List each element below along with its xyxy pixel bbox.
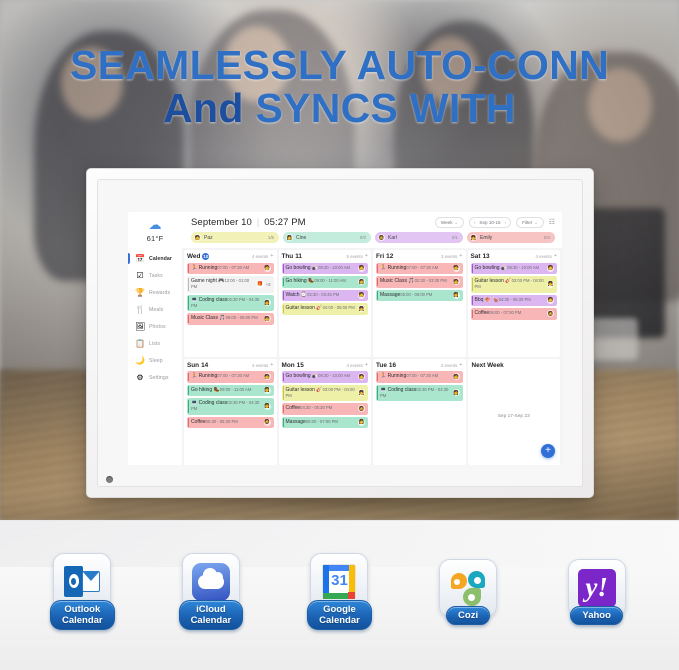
yahoo-tile: y!: [578, 569, 616, 607]
event-title: Guitar lesson 🎸: [286, 305, 323, 311]
app-cozi[interactable]: Cozi: [420, 559, 516, 625]
event-time: 04:30 - 05:30 PM: [499, 297, 531, 302]
event-title: 🏃 Running: [380, 265, 406, 271]
add-event-icon[interactable]: +: [270, 254, 273, 259]
event-color-bar: [377, 278, 378, 287]
event-color-bar: [188, 296, 189, 310]
day-event-count: 3 events: [441, 254, 457, 259]
event-card[interactable]: Bbq 🍖 🍗04:30 - 05:30 PM🧑: [471, 295, 558, 307]
day-name: Thu: [282, 253, 294, 260]
event-avatar: 🧑: [264, 265, 271, 272]
supported-apps-strip: Outlook CalendariCloud Calendar31Google …: [0, 520, 679, 670]
add-event-icon[interactable]: +: [365, 363, 368, 368]
event-text: 🏃 Running07:00 - 07:30 AM: [191, 265, 262, 271]
weather-widget[interactable]: ☁ 61°F: [128, 212, 182, 248]
member-event-count: 1/5: [268, 235, 274, 240]
cloud-icon: ☁: [128, 218, 182, 231]
headline-line-2-suffix: SYNCS WITH: [255, 85, 515, 131]
sleep-icon: 🌙: [135, 357, 145, 365]
day-event-count: 4 events: [252, 363, 268, 368]
sidebar-item-tasks[interactable]: ☑Tasks: [128, 267, 182, 284]
current-date: September 10: [191, 217, 252, 228]
event-card[interactable]: Massage05:00 - 06:00 PM👩: [376, 290, 463, 302]
add-event-icon[interactable]: +: [365, 254, 368, 259]
event-title: Watch ⌚: [286, 292, 308, 298]
member-name: Karl: [388, 235, 449, 241]
event-text: Go bowling 🎳08:30 - 10:00 AM: [286, 373, 357, 379]
day-date: 13: [482, 253, 489, 260]
event-text: Guitar lesson 🎸03:00 PM - 04:00 PM: [286, 387, 357, 399]
cozi-petal-teal: [468, 571, 485, 588]
top-bar: September 10 | 05:27 PM Week ⌄ ‹ Sep 10-…: [182, 212, 562, 232]
event-card[interactable]: Watch ⌚02:30 - 03:45 PM🧑: [282, 290, 369, 302]
event-card[interactable]: Coffee04:30 - 05:30 PM🧔: [282, 403, 369, 415]
event-avatar: 🧑: [547, 297, 554, 304]
event-avatar: 👩: [453, 389, 460, 396]
event-color-bar: [283, 264, 284, 273]
day-title: Mon15: [282, 362, 304, 369]
event-text: Coffee06:00 - 07:00 PM: [475, 310, 546, 316]
event-color-bar: [283, 418, 284, 427]
day-column-sun-14[interactable]: Sun144 events+🏃 Running07:00 - 07:30 AM🧑…: [184, 359, 277, 466]
event-title: Guitar lesson 🎸: [286, 387, 323, 393]
event-title: Go bowling 🎳: [286, 265, 319, 271]
event-card[interactable]: Guitar lesson 🎸03:00 PM - 04:00 PM👧: [282, 385, 369, 402]
day-meta: 2 events+: [441, 363, 462, 368]
event-title: Go hiking 🥾: [191, 387, 220, 393]
day-name: Fri: [376, 253, 384, 260]
photos-icon: 🖼: [135, 323, 145, 331]
event-color-bar: [283, 405, 284, 414]
sidebar-item-sleep[interactable]: 🌙Sleep: [128, 352, 182, 369]
day-header: Thu115 events+: [282, 253, 369, 260]
camera-icon: [106, 476, 113, 483]
event-title: Coffee: [286, 405, 301, 411]
event-card[interactable]: Music Class 🎵05:00 - 06:00 PM🧑: [187, 313, 274, 325]
day-meta: 5 events+: [347, 254, 368, 259]
member-name: Cine: [296, 235, 357, 241]
event-color-bar: [283, 386, 284, 400]
sidebar-item-label: Tasks: [149, 273, 163, 279]
day-name: Tue: [376, 362, 387, 369]
event-text: 🏃 Running07:00 - 07:30 AM: [191, 373, 262, 379]
cozi-petal-green: [463, 588, 481, 606]
event-color-bar: [472, 278, 473, 292]
avatar: 👩: [286, 234, 293, 241]
event-more-count: +3: [266, 282, 271, 287]
event-title: Massage: [380, 292, 400, 298]
event-avatar: 👩: [264, 403, 271, 410]
event-card[interactable]: 🏃 Running07:00 - 07:30 AM🧑: [187, 263, 274, 275]
day-date: 14: [201, 362, 208, 369]
event-avatar: 🎁: [257, 281, 264, 288]
headline-line-1: SEAMLESSLY AUTO-CONN: [0, 44, 679, 87]
event-avatar: 👧: [358, 389, 365, 396]
event-title: Music Class 🎵: [191, 315, 226, 321]
event-color-bar: [283, 305, 284, 314]
headline-line-2: And SYNCS WITH: [0, 87, 679, 130]
event-time: 08:30 - 10:00 AM: [318, 373, 350, 378]
main-panel: September 10 | 05:27 PM Week ⌄ ‹ Sep 10-…: [182, 212, 562, 465]
day-column-wed-10[interactable]: Wed104 events+🏃 Running07:00 - 07:30 AM🧑…: [184, 250, 277, 357]
event-text: Bbq 🍖 🍗04:30 - 05:30 PM: [475, 297, 546, 303]
event-avatar: 👧: [358, 305, 365, 312]
member-chip-cine[interactable]: 👩Cine0/3: [283, 232, 371, 243]
day-event-count: 2 events: [441, 363, 457, 368]
cozi-dot: [468, 594, 475, 601]
event-card[interactable]: Guitar lesson 🎸04:00 - 05:00 PM👧: [282, 303, 369, 315]
event-title: 🏃 Running: [191, 265, 217, 271]
sidebar-item-label: Rewards: [149, 290, 170, 296]
event-avatar: 👩: [264, 299, 271, 306]
event-time: 07:00 - 07:30 AM: [217, 373, 249, 378]
event-time: 08:30 - 10:00 AM: [507, 265, 539, 270]
event-list: 🏃 Running07:00 - 07:30 AM🧑💻 Coding class…: [376, 371, 463, 401]
week-row: Sun144 events+🏃 Running07:00 - 07:30 AM🧑…: [182, 359, 562, 466]
event-time: 07:00 - 07:30 AM: [217, 265, 249, 270]
event-card[interactable]: 💻 Coding class02:30 PM - 04:30 PM👩: [187, 398, 274, 415]
event-title: Go bowling 🎳: [475, 265, 508, 271]
google-calendar-icon: 31: [319, 562, 359, 602]
add-event-icon[interactable]: +: [554, 254, 557, 259]
sidebar-nav: 📅Calendar☑Tasks🏆Rewards🍴Meals🖼Photos📋Lis…: [128, 248, 182, 386]
chevron-down-icon: ⌄: [534, 220, 537, 225]
day-name: Sun: [187, 362, 199, 369]
avatar: 🧑: [194, 234, 201, 241]
day-event-count: 4 events: [252, 254, 268, 259]
day-header: Tue162 events+: [376, 362, 463, 369]
event-title: Coffee: [475, 310, 490, 316]
gcal-day-number: 31: [319, 573, 359, 588]
gcal-corner: [348, 592, 355, 599]
event-card[interactable]: Go hiking 🥾09:00 - 11:00 AM👩: [187, 385, 274, 397]
event-avatar: 🧔: [358, 405, 365, 412]
day-date: 16: [389, 362, 396, 369]
add-event-button[interactable]: +: [541, 444, 555, 458]
event-card[interactable]: Coffee06:00 - 07:00 PM🧔: [471, 308, 558, 320]
event-time: 05:30 - 06:30 PM: [206, 419, 238, 424]
sidebar-item-settings[interactable]: ⚙Settings: [128, 369, 182, 386]
chevron-left-icon[interactable]: ‹: [474, 220, 476, 225]
event-avatar: 👩: [264, 387, 271, 394]
day-event-count: 4 events: [347, 363, 363, 368]
event-time: 08:30 - 10:00 AM: [318, 265, 350, 270]
event-list: Go bowling 🎳08:30 - 10:00 AM🧑Go hiking 🥾…: [282, 263, 369, 315]
day-title: Tue16: [376, 362, 396, 369]
event-time: 02:30 - 03:45 PM: [307, 292, 339, 297]
current-time: 05:27 PM: [264, 217, 305, 228]
event-card[interactable]: Guitar lesson 🎸03:00 PM - 04:00 PM👧: [471, 276, 558, 293]
event-list: 🏃 Running07:00 - 07:30 AM🧑Go hiking 🥾09:…: [187, 371, 274, 428]
chevron-right-icon[interactable]: ›: [505, 220, 507, 225]
date-range-label: Sep 10-16: [479, 220, 500, 225]
app-label: Outlook Calendar: [50, 600, 115, 630]
sidebar-item-lists[interactable]: 📋Lists: [128, 335, 182, 352]
event-card[interactable]: 🏃 Running07:00 - 07:30 AM🧑: [376, 263, 463, 275]
event-list: 🏃 Running07:00 - 07:30 AM🧑Music Class 🎵0…: [376, 263, 463, 302]
app-label: Yahoo: [570, 606, 623, 625]
device-screen[interactable]: ☁ 61°F 📅Calendar☑Tasks🏆Rewards🍴Meals🖼Pho…: [128, 212, 562, 465]
event-text: Go bowling 🎳08:30 - 10:00 AM: [286, 265, 357, 271]
cozi-dot: [474, 577, 481, 584]
next-week-title: Next Week: [472, 362, 504, 369]
avatar: 🧔: [378, 234, 385, 241]
day-column-mon-15[interactable]: Mon154 events+Go bowling 🎳08:30 - 10:00 …: [279, 359, 372, 466]
cozi-icon: [448, 568, 488, 608]
event-color-bar: [472, 296, 473, 305]
event-title: Bbq 🍖 🍗: [475, 297, 499, 303]
event-title: 💻 Coding class: [380, 387, 416, 393]
event-title: 💻 Coding class: [191, 297, 227, 303]
event-time: 02:30 - 03:30 PM: [415, 278, 447, 283]
event-color-bar: [188, 315, 189, 324]
view-selector[interactable]: Week ⌄: [435, 217, 464, 227]
event-time: 07:00 - 07:30 AM: [406, 373, 438, 378]
event-time: 06:00 - 07:00 PM: [489, 310, 521, 315]
day-date: 11: [295, 253, 302, 260]
today-badge: 10: [202, 253, 209, 260]
date-time-display: September 10 | 05:27 PM: [191, 217, 306, 228]
event-card[interactable]: Go bowling 🎳08:30 - 10:00 AM🧑: [471, 263, 558, 275]
event-card[interactable]: Go bowling 🎳08:30 - 10:00 AM🧑: [282, 371, 369, 383]
event-avatar: 🧑: [453, 265, 460, 272]
event-text: Massage05:00 - 06:00 PM: [380, 292, 451, 298]
day-meta: 4 events+: [252, 254, 273, 259]
event-text: 💻 Coding class02:30 PM - 04:30 PM: [191, 297, 262, 309]
event-avatar: 👧: [547, 281, 554, 288]
event-text: 💻 Coding class02:30 PM - 04:30 PM: [191, 400, 262, 412]
sidebar-item-meals[interactable]: 🍴Meals: [128, 301, 182, 318]
event-list: Go bowling 🎳08:30 - 10:00 AM🧑Guitar less…: [471, 263, 558, 320]
event-time: 05:00 - 06:00 PM: [400, 292, 432, 297]
event-text: Music Class 🎵02:30 - 03:30 PM: [380, 278, 451, 284]
calendar-icon: 📅: [135, 255, 145, 263]
event-title: Coffee: [191, 419, 206, 425]
week-grid: Wed104 events+🏃 Running07:00 - 07:30 AM🧑…: [182, 248, 562, 465]
day-meta: 4 events+: [252, 363, 273, 368]
event-avatar: 🧔: [264, 419, 271, 426]
day-date: 15: [297, 362, 304, 369]
day-header: Mon154 events+: [282, 362, 369, 369]
day-header: Sat134 events+: [471, 253, 558, 260]
day-meta: 4 events+: [536, 254, 557, 259]
member-name: Emily: [480, 235, 541, 241]
event-text: 🏃 Running07:00 - 07:30 AM: [380, 373, 451, 379]
day-date: 12: [386, 253, 393, 260]
event-list: Go bowling 🎳08:30 - 10:00 AM🧑Guitar less…: [282, 371, 369, 428]
day-title: Sat13: [471, 253, 490, 260]
event-color-bar: [188, 264, 189, 273]
app-outlook-calendar[interactable]: Outlook Calendar: [34, 553, 130, 630]
headline-line-2-prefix: And: [163, 85, 255, 131]
event-text: Music Class 🎵05:00 - 06:00 PM: [191, 315, 262, 321]
sidebar-item-label: Calendar: [149, 256, 172, 262]
meals-icon: 🍴: [135, 306, 145, 314]
event-text: Watch ⌚02:30 - 03:45 PM: [286, 292, 357, 298]
icloud-cloud-shape: [198, 575, 224, 589]
avatar: 👧: [470, 234, 477, 241]
event-color-bar: [472, 310, 473, 319]
icloud-calendar-icon: [191, 562, 231, 602]
event-color-bar: [188, 278, 189, 292]
event-color-bar: [188, 418, 189, 427]
event-text: Massage06:00 - 07:00 PM: [286, 419, 357, 425]
app-icloud-calendar[interactable]: iCloud Calendar: [163, 553, 259, 630]
event-avatar: 🧑: [358, 292, 365, 299]
sidebar-item-label: Settings: [149, 375, 169, 381]
event-text: Go hiking 🥾09:00 - 11:00 AM: [286, 278, 357, 284]
sidebar-item-calendar[interactable]: 📅Calendar: [128, 250, 182, 267]
app-label: Google Calendar: [307, 600, 372, 630]
event-color-bar: [283, 373, 284, 382]
event-avatar: 🧔: [547, 310, 554, 317]
filter-button[interactable]: Filter ⌄: [516, 217, 544, 227]
cozi-petal-orange: [451, 573, 467, 589]
event-card[interactable]: 💻 Coding class02:30 PM - 04:30 PM👩: [187, 295, 274, 312]
event-title: Massage: [286, 419, 306, 425]
event-avatar: 🧑: [453, 373, 460, 380]
date-time-separator: |: [257, 217, 259, 227]
add-event-icon[interactable]: +: [459, 363, 462, 368]
add-event-icon[interactable]: +: [459, 254, 462, 259]
outlook-o-inner: [71, 578, 76, 585]
lists-icon: 📋: [135, 340, 145, 348]
view-selector-label: Week: [441, 220, 453, 225]
event-avatar: 🧑: [547, 265, 554, 272]
headline: SEAMLESSLY AUTO-CONN And SYNCS WITH: [0, 44, 679, 129]
event-title: Go hiking 🥾: [286, 278, 315, 284]
sidebar-item-label: Lists: [149, 341, 160, 347]
event-time: 06:00 - 07:00 PM: [306, 419, 338, 424]
event-text: 🏃 Running07:00 - 07:30 AM: [380, 265, 451, 271]
app-yahoo[interactable]: y!Yahoo: [549, 559, 645, 625]
event-card[interactable]: Game night 🎮12:00 - 01:00 PM🎁+3: [187, 276, 274, 293]
app-google-calendar[interactable]: 31Google Calendar: [291, 553, 387, 630]
day-header: Fri123 events+: [376, 253, 463, 260]
wifi-icon[interactable]: ☷: [549, 219, 555, 226]
day-name: Mon: [282, 362, 295, 369]
day-column-thu-11[interactable]: Thu115 events+Go bowling 🎳08:30 - 10:00 …: [279, 250, 372, 357]
event-color-bar: [377, 291, 378, 300]
event-color-bar: [188, 400, 189, 414]
event-color-bar: [377, 373, 378, 382]
app-label: Cozi: [446, 606, 490, 625]
event-title: Music Class 🎵: [380, 278, 415, 284]
event-card[interactable]: Go hiking 🥾09:00 - 11:00 AM👩: [282, 276, 369, 288]
day-header: Wed104 events+: [187, 253, 274, 260]
rewards-icon: 🏆: [135, 289, 145, 297]
day-event-count: 5 events: [347, 254, 363, 259]
day-title: Wed10: [187, 253, 209, 260]
sidebar-item-label: Meals: [149, 307, 163, 313]
sidebar-item-rewards[interactable]: 🏆Rewards: [128, 284, 182, 301]
event-color-bar: [283, 291, 284, 300]
sidebar-item-label: Sleep: [149, 358, 163, 364]
member-name: Paz: [204, 235, 265, 241]
yahoo-icon: y!: [577, 568, 617, 608]
day-title: Sun14: [187, 362, 208, 369]
yahoo-letter: y!: [585, 574, 608, 601]
event-card[interactable]: Music Class 🎵02:30 - 03:30 PM🧑: [376, 276, 463, 288]
toolbar: Week ⌄ ‹ Sep 10-16 › Filter ⌄ ☷: [435, 217, 555, 227]
event-card[interactable]: Massage06:00 - 07:00 PM👩: [282, 417, 369, 429]
event-card[interactable]: 💻 Coding class02:30 PM - 04:30 PM👩: [376, 385, 463, 402]
member-chip-paz[interactable]: 🧑Paz1/5: [191, 232, 279, 243]
event-title: Go bowling 🎳: [286, 373, 319, 379]
event-time: 07:00 - 07:30 AM: [406, 265, 438, 270]
member-event-count: 0/1: [452, 235, 458, 240]
event-list: 🏃 Running07:00 - 07:30 AM🧑Game night 🎮12…: [187, 263, 274, 325]
event-color-bar: [377, 264, 378, 273]
event-avatar: 👩: [453, 292, 460, 299]
event-card[interactable]: Go bowling 🎳08:30 - 10:00 AM🧑: [282, 263, 369, 275]
event-color-bar: [472, 264, 473, 273]
event-text: Game night 🎮12:00 - 01:00 PM: [191, 278, 255, 290]
app-label: iCloud Calendar: [179, 600, 244, 630]
event-avatar: 🧑: [358, 373, 365, 380]
day-name: Sat: [471, 253, 481, 260]
event-color-bar: [188, 386, 189, 395]
day-event-count: 4 events: [536, 254, 552, 259]
outlook-calendar-icon: [62, 562, 102, 602]
date-range-navigator[interactable]: ‹ Sep 10-16 ›: [469, 217, 511, 227]
member-chip-emily[interactable]: 👧Emily0/4: [467, 232, 555, 243]
member-chip-karl[interactable]: 🧔Karl0/1: [375, 232, 463, 243]
day-meta: 4 events+: [347, 363, 368, 368]
event-time: 05:00 - 06:00 PM: [226, 315, 258, 320]
event-text: 💻 Coding class02:30 PM - 04:30 PM: [380, 387, 451, 399]
event-card[interactable]: 🏃 Running07:00 - 07:30 AM🧑: [187, 371, 274, 383]
add-event-icon[interactable]: +: [270, 363, 273, 368]
next-week-range: Sep 17-Sep 23: [498, 414, 530, 419]
event-avatar: 🧑: [264, 315, 271, 322]
day-name: Wed: [187, 253, 200, 260]
event-title: 🏃 Running: [380, 373, 406, 379]
settings-icon: ⚙: [135, 374, 145, 382]
sidebar-item-photos[interactable]: 🖼Photos: [128, 318, 182, 335]
sidebar: ☁ 61°F 📅Calendar☑Tasks🏆Rewards🍴Meals🖼Pho…: [128, 212, 182, 465]
cozi-dot: [454, 579, 460, 585]
day-title: Thu11: [282, 253, 302, 260]
member-event-count: 0/4: [544, 235, 550, 240]
event-time: 09:00 - 11:00 AM: [220, 387, 252, 392]
event-title: 🏃 Running: [191, 373, 217, 379]
day-column-sat-13[interactable]: Sat134 events+Go bowling 🎳08:30 - 10:00 …: [468, 250, 561, 357]
event-text: Guitar lesson 🎸04:00 - 05:00 PM: [286, 305, 357, 311]
weather-temperature: 61°F: [128, 234, 182, 243]
event-card[interactable]: Coffee05:30 - 06:30 PM🧔: [187, 417, 274, 429]
event-avatar: 👩: [358, 419, 365, 426]
event-time: 04:00 - 05:00 PM: [323, 305, 355, 310]
member-filter-chips: 🧑Paz1/5👩Cine0/3🧔Karl0/1👧Emily0/4: [182, 232, 562, 248]
event-color-bar: [377, 386, 378, 400]
day-column-fri-12[interactable]: Fri123 events+🏃 Running07:00 - 07:30 AM🧑…: [373, 250, 466, 357]
event-avatar: 🧑: [358, 265, 365, 272]
day-title: Fri12: [376, 253, 393, 260]
event-avatar: 👩: [358, 278, 365, 285]
week-row: Wed104 events+🏃 Running07:00 - 07:30 AM🧑…: [182, 250, 562, 357]
day-header: Sun144 events+: [187, 362, 274, 369]
event-card[interactable]: 🏃 Running07:00 - 07:30 AM🧑: [376, 371, 463, 383]
event-color-bar: [188, 373, 189, 382]
event-time: 04:30 - 05:30 PM: [300, 405, 332, 410]
event-avatar: 🧑: [453, 278, 460, 285]
day-column-tue-16[interactable]: Tue162 events+🏃 Running07:00 - 07:30 AM🧑…: [373, 359, 466, 466]
event-text: Guitar lesson 🎸03:00 PM - 04:00 PM: [475, 278, 546, 290]
member-event-count: 0/3: [360, 235, 366, 240]
filter-label: Filter: [522, 220, 532, 225]
chevron-down-icon: ⌄: [455, 220, 458, 225]
